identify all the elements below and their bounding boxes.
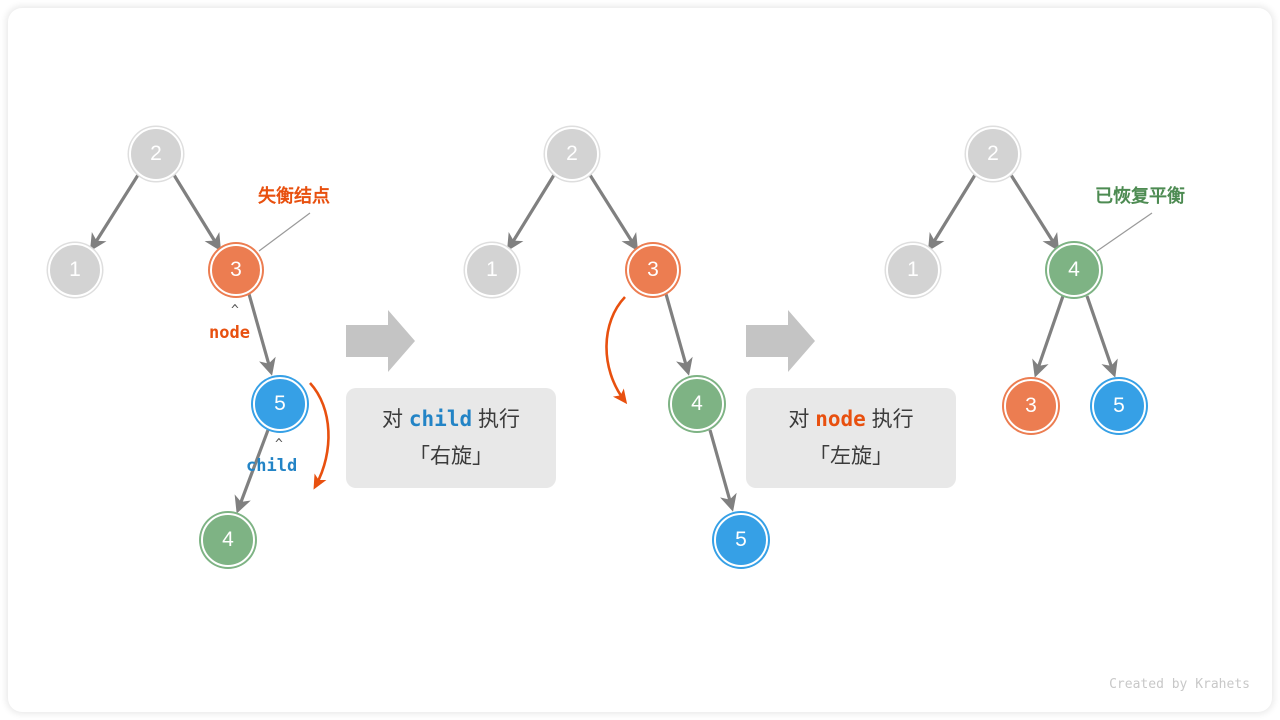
step-1-caption-line-1: 对 child 执行 (382, 401, 520, 439)
rebalanced-leader-line (1097, 213, 1152, 251)
tree-node[interactable]: 2 (545, 127, 599, 181)
step-2-suffix: 执行 (872, 408, 914, 431)
step-2-caption-line-1: 对 node 执行 (788, 401, 913, 439)
tree-node[interactable]: 1 (886, 243, 940, 297)
child-pointer-caret: ^ (275, 437, 283, 452)
tree-node-child[interactable]: 5 (253, 377, 307, 431)
step-2-caption-line-2: 「左旋」 (809, 439, 893, 476)
tree-node[interactable]: 2 (966, 127, 1020, 181)
tree-node-rebalanced[interactable]: 4 (1047, 243, 1101, 297)
imbalance-leader-line (259, 213, 310, 251)
step-1-caption-line-2: 「右旋」 (409, 439, 493, 476)
tree-node[interactable]: 2 (129, 127, 183, 181)
tree-node[interactable]: 5 (1092, 379, 1146, 433)
step-1-caption: 对 child 执行 「右旋」 (346, 388, 556, 488)
step-1-prefix: 对 (382, 408, 403, 431)
step-1-suffix: 执行 (478, 408, 520, 431)
tree-node[interactable]: 4 (670, 377, 724, 431)
right-rotate-arrow (310, 383, 328, 485)
tree-node[interactable]: 1 (48, 243, 102, 297)
tree-node[interactable]: 4 (201, 513, 255, 567)
tree-node-imbalanced[interactable]: 3 (627, 244, 679, 296)
left-rotate-arrow (606, 297, 625, 400)
figure-canvas: 2 1 3 5 4 失衡结点 ^ node ^ child 对 child 执行… (0, 0, 1280, 720)
step-2-prefix: 对 (788, 408, 809, 431)
watermark: Created by Krahets (1109, 677, 1250, 692)
step-1-keyword: child (409, 407, 472, 431)
child-pointer-label: child (246, 456, 297, 476)
tree-node-imbalanced[interactable]: 3 (210, 244, 262, 296)
step-arrow-2 (746, 310, 815, 372)
tree-node[interactable]: 1 (465, 243, 519, 297)
tree-node[interactable]: 3 (1004, 379, 1058, 433)
node-pointer-caret: ^ (231, 303, 239, 318)
step-2-keyword: node (815, 407, 866, 431)
connector-layer (0, 0, 1280, 720)
step-arrow-1 (346, 310, 415, 372)
node-pointer-label: node (209, 323, 250, 343)
step-2-caption: 对 node 执行 「左旋」 (746, 388, 956, 488)
tree-node[interactable]: 5 (714, 513, 768, 567)
imbalance-annotation: 失衡结点 (258, 182, 330, 208)
rebalanced-annotation: 已恢复平衡 (1095, 182, 1185, 208)
